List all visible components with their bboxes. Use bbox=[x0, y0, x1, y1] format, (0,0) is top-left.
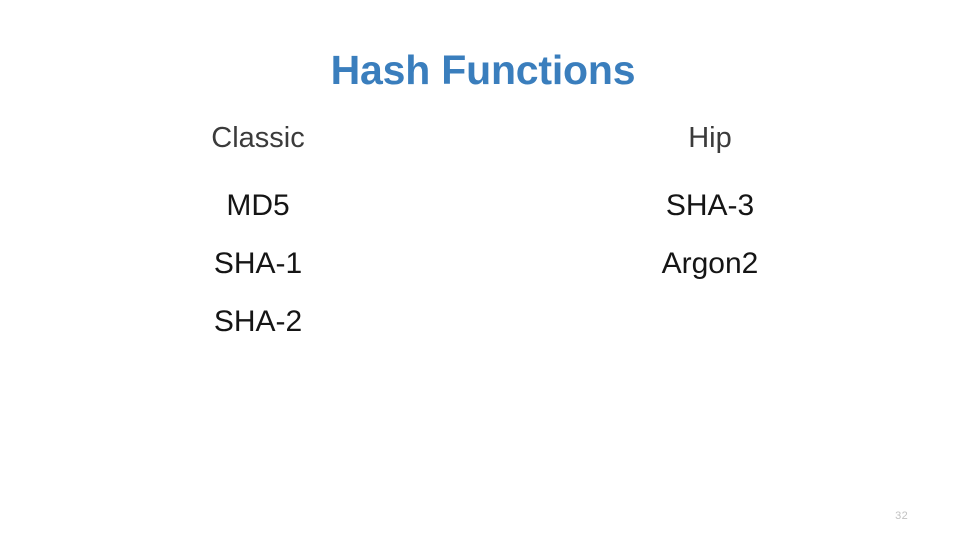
page-number: 32 bbox=[895, 511, 908, 522]
column-classic: Classic MD5 SHA-1 SHA-2 bbox=[148, 124, 368, 335]
column-header-classic: Classic bbox=[148, 124, 368, 158]
list-item: SHA-2 bbox=[148, 307, 368, 335]
list-item: SHA-1 bbox=[148, 249, 368, 277]
item-list-classic: MD5 SHA-1 SHA-2 bbox=[148, 191, 368, 335]
list-item: Argon2 bbox=[600, 249, 820, 277]
two-column-content: Classic MD5 SHA-1 SHA-2 Hip SHA-3 Argon2 bbox=[0, 124, 960, 384]
column-hip: Hip SHA-3 Argon2 bbox=[600, 124, 820, 277]
page-title: Hash Functions bbox=[0, 48, 960, 93]
column-header-hip: Hip bbox=[600, 124, 820, 158]
list-item: SHA-3 bbox=[600, 191, 820, 219]
list-item: MD5 bbox=[148, 191, 368, 219]
slide-canvas: Hash Functions Classic MD5 SHA-1 SHA-2 H… bbox=[0, 0, 960, 540]
item-list-hip: SHA-3 Argon2 bbox=[600, 191, 820, 277]
